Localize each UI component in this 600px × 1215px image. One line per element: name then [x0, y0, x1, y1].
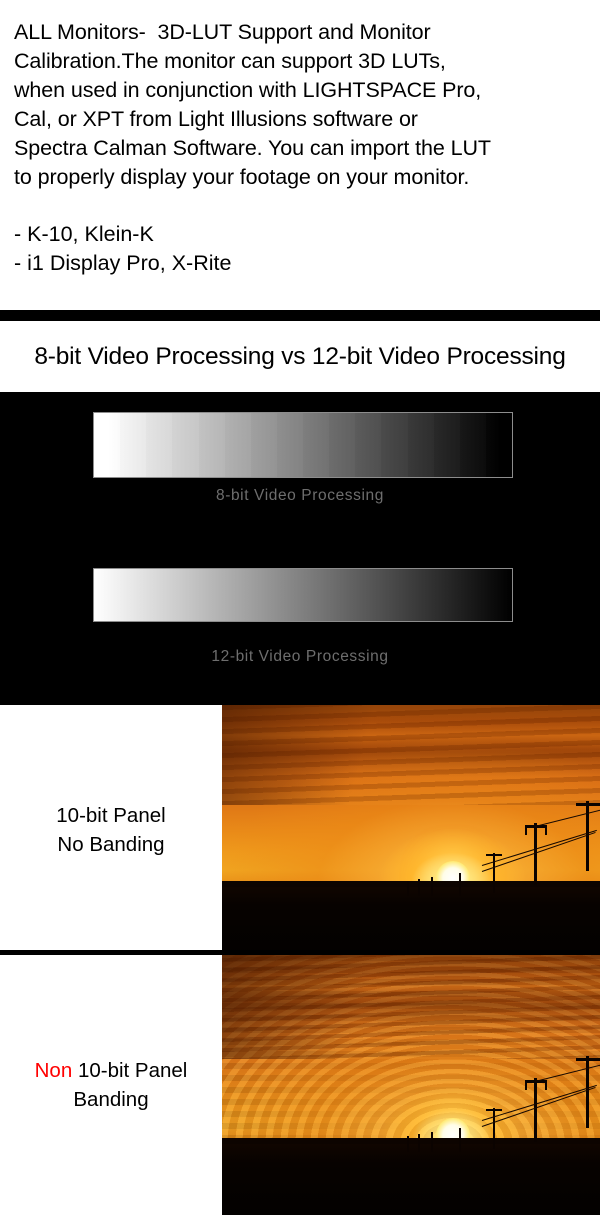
pylon-icon: [525, 1080, 527, 1090]
ramp-step: [277, 413, 303, 477]
ramp-step: [460, 413, 486, 477]
ramp-12bit-caption: 12-bit Video Processing: [0, 648, 600, 666]
ground-silhouette: [222, 884, 600, 955]
ramp-step: [251, 413, 277, 477]
intro-bullet-item: - K-10, Klein-K: [14, 220, 590, 249]
pylon-icon: [545, 1080, 547, 1090]
pylon-icon: [459, 873, 461, 896]
ramp-step: [199, 413, 225, 477]
ramp-step: [146, 413, 172, 477]
pylon-crossarm: [576, 1058, 600, 1061]
intro-paragraph: ALL Monitors- 3D-LUT Support and Monitor…: [14, 18, 590, 192]
panel-caption-line: Banding: [73, 1085, 148, 1114]
ramp-8bit-stepped: [93, 412, 513, 478]
ground-silhouette: [222, 1141, 600, 1215]
panel-caption-no-banding: 10-bit Panel No Banding: [0, 705, 222, 955]
panel-row-banding: Non 10-bit Panel Banding: [0, 955, 600, 1215]
panel-row-no-banding: 10-bit Panel No Banding: [0, 705, 600, 955]
intro-bullet-item: - i1 Display Pro, X-Rite: [14, 249, 590, 278]
ramp-step: [172, 413, 198, 477]
ramp-step: [120, 413, 146, 477]
ramp-8bit-steps: [94, 413, 512, 477]
comparison-title-band: 8-bit Video Processing vs 12-bit Video P…: [0, 321, 600, 392]
ramp-8bit-caption: 8-bit Video Processing: [0, 487, 600, 505]
ramp-step: [94, 413, 120, 477]
comparison-title: 8-bit Video Processing vs 12-bit Video P…: [34, 343, 565, 371]
ramp-step: [225, 413, 251, 477]
cloud-streaks: [222, 705, 600, 805]
pylon-icon: [534, 823, 537, 885]
pylon-icon: [431, 877, 433, 896]
panel-caption-line: 10-bit Panel: [56, 801, 165, 830]
ramp-step: [486, 413, 512, 477]
pylon-icon: [545, 825, 547, 835]
sunset-photo-no-banding: [222, 705, 600, 955]
intro-text-section: ALL Monitors- 3D-LUT Support and Monitor…: [0, 0, 600, 310]
pylon-crossarm: [486, 854, 502, 856]
pylon-icon: [534, 1078, 537, 1142]
ramp-step: [355, 413, 381, 477]
ramp-step: [381, 413, 407, 477]
ramp-12bit-gradient: [94, 569, 512, 621]
pylon-icon: [493, 1108, 495, 1149]
pylon-icon: [418, 879, 420, 896]
gradient-comparison-panel: 8-bit Video Processing 12-bit Video Proc…: [0, 392, 600, 705]
sunset-photo-banding: [222, 955, 600, 1215]
panel-caption-banding: Non 10-bit Panel Banding: [0, 955, 222, 1215]
cloud-streaks: [222, 955, 600, 1059]
pylon-icon: [431, 1132, 433, 1152]
ramp-step: [329, 413, 355, 477]
panel-caption-line: No Banding: [57, 830, 164, 859]
panel-caption-line: 10-bit Panel: [78, 1059, 187, 1082]
pylon-crossarm: [486, 1109, 502, 1111]
ramp-12bit-smooth: [93, 568, 513, 622]
pylon-icon: [493, 853, 495, 893]
ramp-step: [303, 413, 329, 477]
highlight-word-non: Non: [35, 1059, 73, 1082]
ramp-step: [408, 413, 434, 477]
panel-caption-line-with-highlight: Non 10-bit Panel: [35, 1056, 188, 1085]
pylon-icon: [407, 881, 409, 896]
pylon-icon: [418, 1134, 420, 1152]
pylon-icon: [407, 1136, 409, 1152]
section-divider-bar: [0, 310, 600, 321]
pylon-icon: [525, 825, 527, 835]
ramp-step: [434, 413, 460, 477]
pylon-crossarm: [576, 803, 600, 806]
intro-bullet-list: - K-10, Klein-K - i1 Display Pro, X-Rite: [14, 220, 590, 278]
pylon-icon: [459, 1128, 461, 1152]
